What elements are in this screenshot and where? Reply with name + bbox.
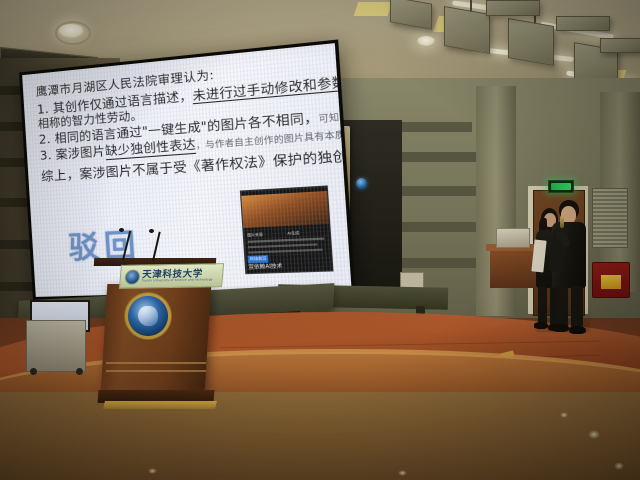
podium-university-name-en: Tianjin University of Science and Techno… [141, 279, 212, 283]
podium-base-gold-trim [103, 401, 217, 409]
podium-microphone-head-icon [119, 228, 124, 232]
wall-louver-vent [592, 188, 628, 248]
podium-microphone-head-icon [149, 229, 154, 233]
floor-specular-highlight [148, 468, 157, 474]
floor-reflection-people [536, 307, 590, 332]
hanging-speaker-panel [508, 18, 554, 66]
hanging-light-body [600, 38, 640, 53]
podium-nameplate-emblem-icon [125, 270, 139, 283]
hanging-light-body [556, 16, 610, 31]
cart-caster [76, 368, 83, 375]
podium-trim-line [106, 362, 206, 364]
banner-logo-icon [356, 178, 367, 189]
emergency-exit-sign-icon [548, 180, 574, 193]
floor-specular-highlight [560, 412, 568, 418]
lecture-hall-photo: 鹰潭市月湖区人民法院审理认为: 1. 其创作仅通过语言描述，未进行过手动修改和参… [0, 0, 640, 480]
floor-specular-highlight [398, 470, 407, 476]
podium-trim-line [106, 370, 206, 372]
downlight-icon [417, 36, 435, 46]
equipment-box [496, 228, 530, 248]
cart-caster [30, 368, 37, 375]
exit-sign-glow [551, 183, 570, 189]
speaker-podium: 天津科技大学 Tianjin University of Science and… [96, 258, 214, 408]
handheld-microphone-icon[interactable] [560, 216, 564, 228]
fire-extinguisher-cabinet [592, 262, 630, 298]
hanging-light-body [486, 0, 540, 16]
podium-nameplate: 天津科技大学 Tianjin University of Science and… [119, 263, 224, 289]
floor-specular-highlight [614, 462, 624, 470]
hanging-speaker-panel [444, 6, 490, 54]
floor-specular-highlight [588, 430, 600, 439]
ceiling-accent-panel [354, 2, 393, 16]
podium-university-emblem-icon [128, 296, 168, 336]
equipment-cart [26, 320, 86, 372]
fire-cabinet-label [601, 275, 621, 289]
downlight-ring [55, 21, 91, 45]
